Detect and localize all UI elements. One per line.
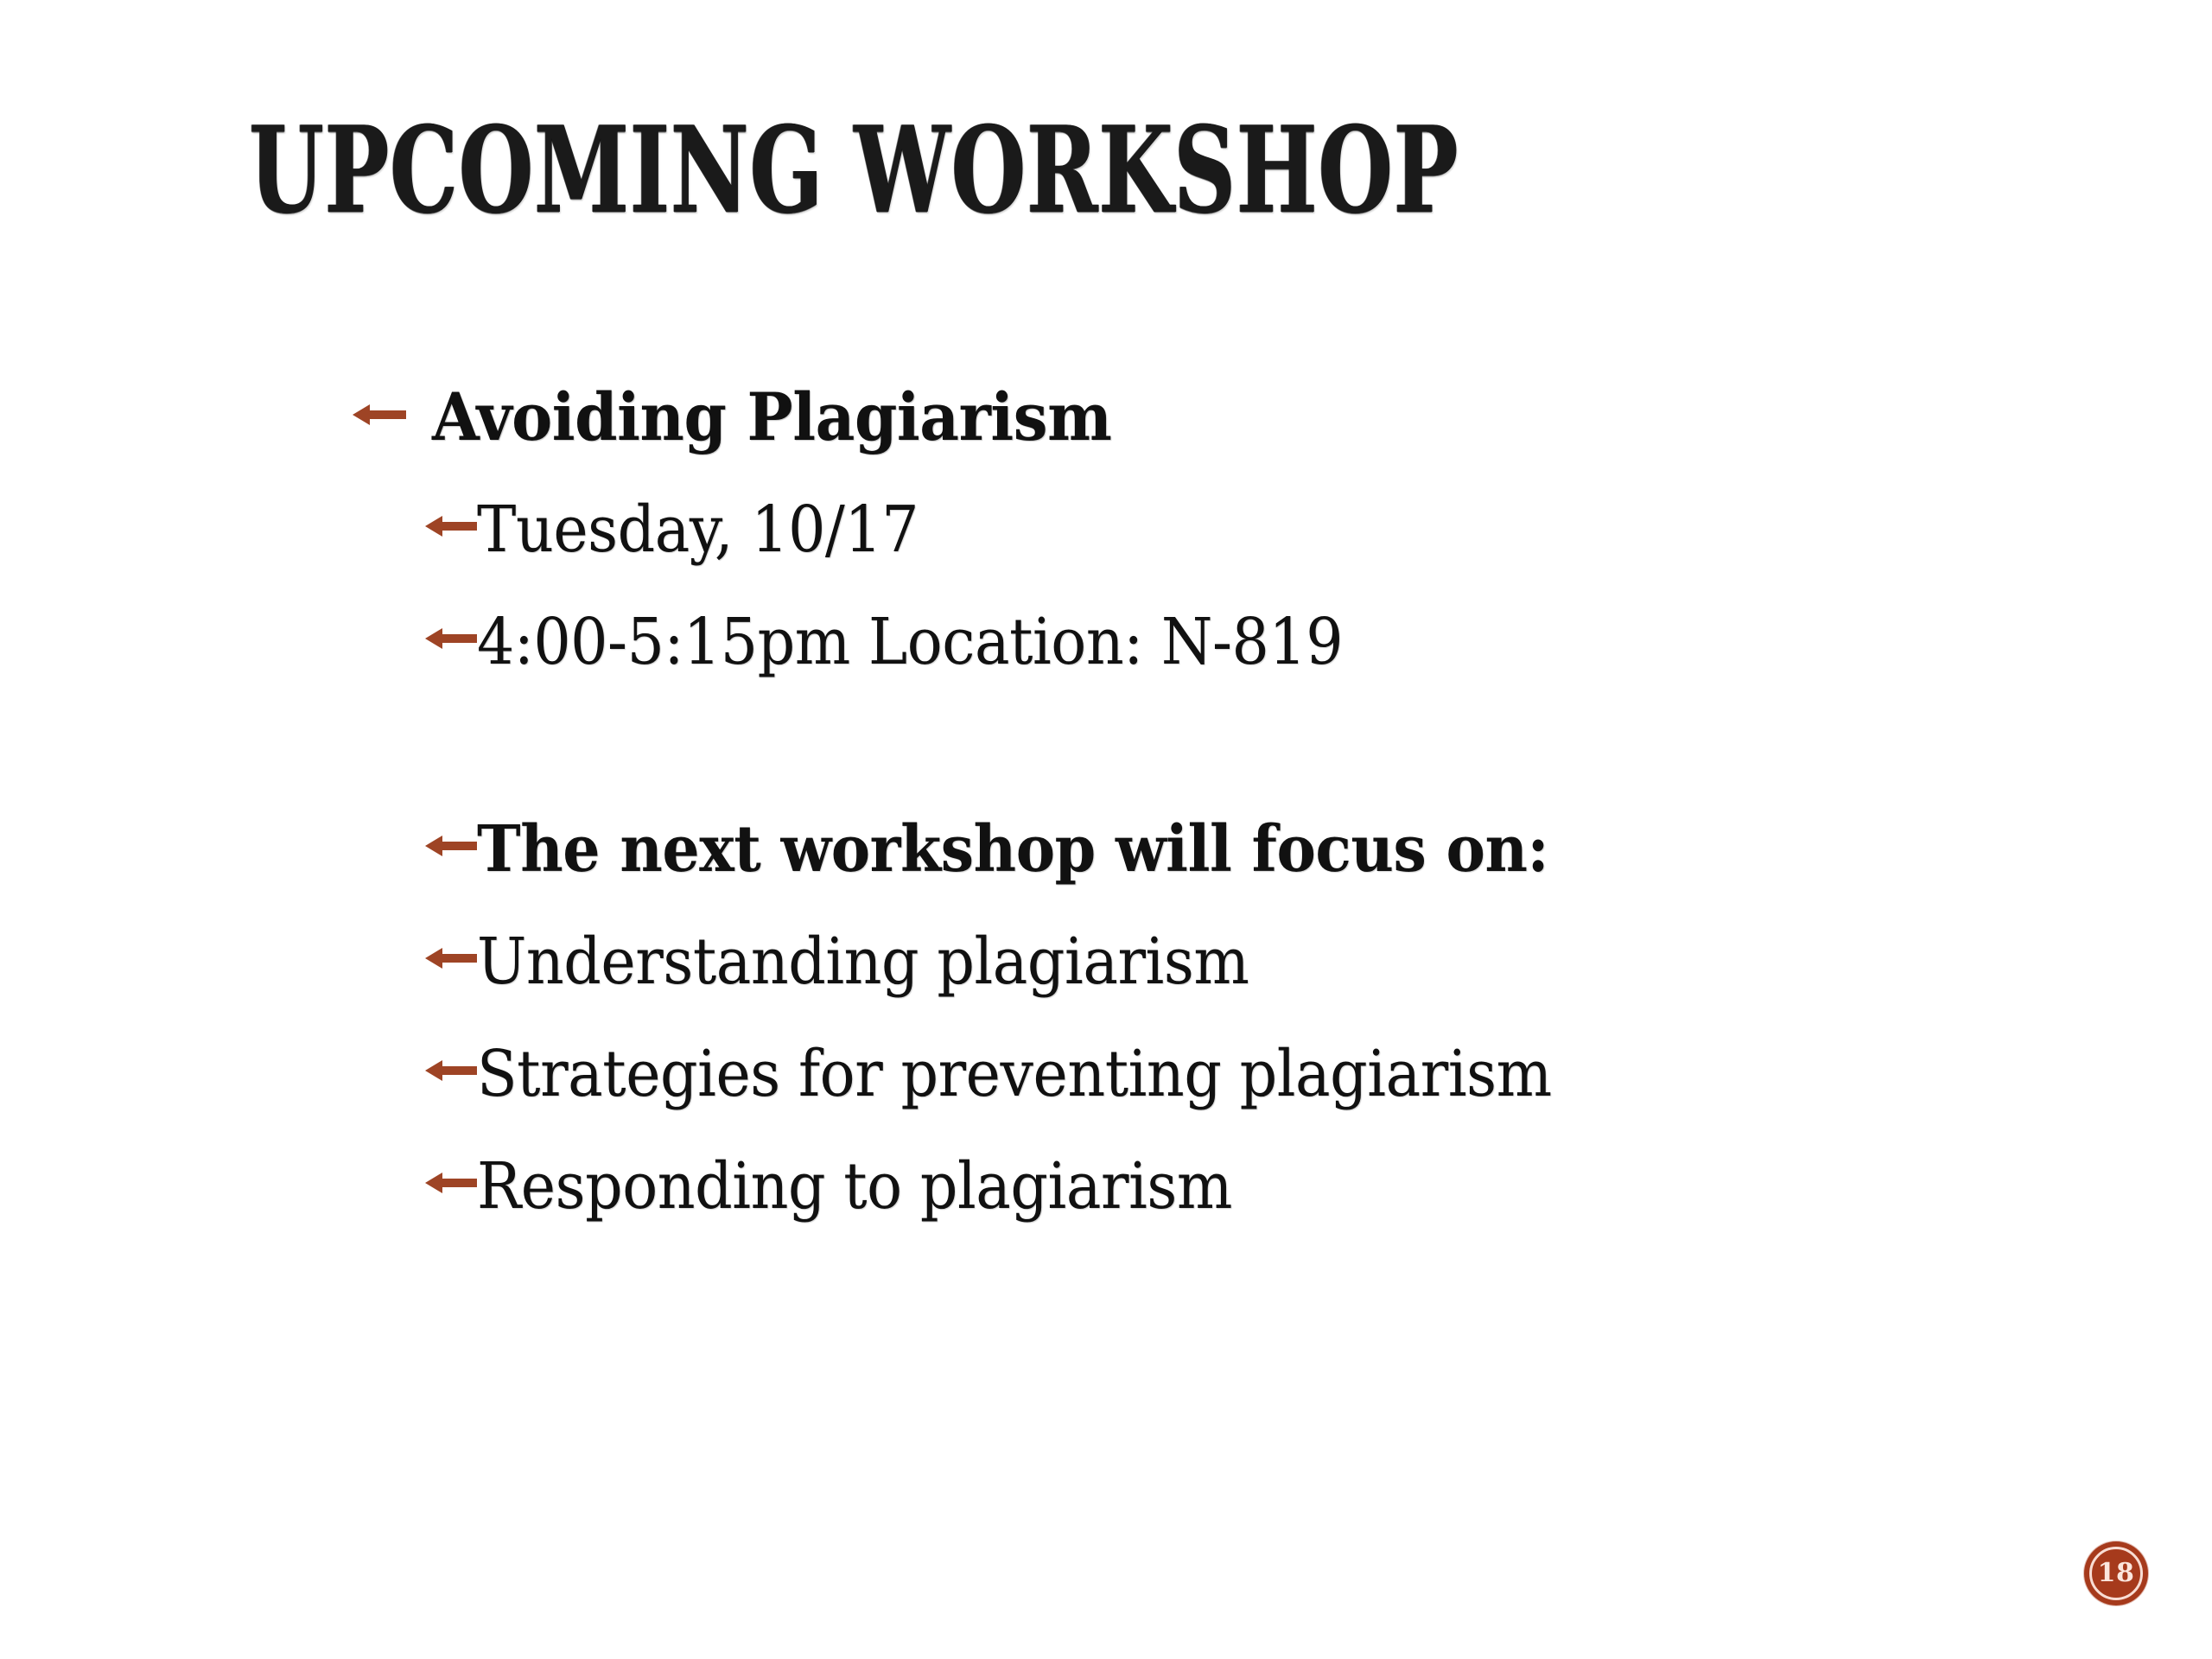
left-arrow-bullet-icon <box>425 626 477 652</box>
list-item[interactable]: 4:00-5:15pm Location: N-819 <box>0 586 2212 698</box>
list-item-label: The next workshop will focus on: <box>477 793 1548 906</box>
left-arrow-bullet-icon <box>425 1170 477 1196</box>
list-item[interactable]: Understanding plagiarism <box>0 906 2212 1018</box>
list-item-label: Tuesday, 10/17 <box>477 474 918 586</box>
list-item[interactable]: Responding to plagiarism <box>0 1130 2212 1243</box>
list-item[interactable]: The next workshop will focus on: <box>0 793 2212 906</box>
left-arrow-bullet-icon <box>425 833 477 859</box>
page-number-badge: 18 <box>2084 1541 2148 1605</box>
list-item-label: 4:00-5:15pm Location: N-819 <box>477 586 1343 698</box>
list-item-label: Strategies for preventing plagiarism <box>477 1018 1552 1130</box>
list-item[interactable]: Strategies for preventing plagiarism <box>0 1018 2212 1130</box>
list-item-label: Understanding plagiarism <box>477 906 1249 1018</box>
bullet-list-spacer <box>0 698 2212 793</box>
list-item-label: Responding to plagiarism <box>477 1130 1232 1243</box>
page-number: 18 <box>2098 1560 2135 1586</box>
list-item[interactable]: Tuesday, 10/17 <box>0 474 2212 586</box>
left-arrow-bullet-icon <box>425 513 477 539</box>
left-arrow-bullet-icon <box>425 945 477 971</box>
left-arrow-bullet-icon <box>353 402 406 428</box>
bullet-list: Avoiding Plagiarism Tuesday, 10/17 4:00-… <box>0 361 2212 1243</box>
list-item[interactable]: Avoiding Plagiarism <box>0 361 2212 474</box>
left-arrow-bullet-icon <box>425 1058 477 1084</box>
presentation-slide: Upcoming Workshop Avoiding Plagiarism Tu… <box>0 0 2212 1659</box>
list-item-label: Avoiding Plagiarism <box>432 361 1111 474</box>
page-title: Upcoming Workshop <box>249 111 1431 230</box>
